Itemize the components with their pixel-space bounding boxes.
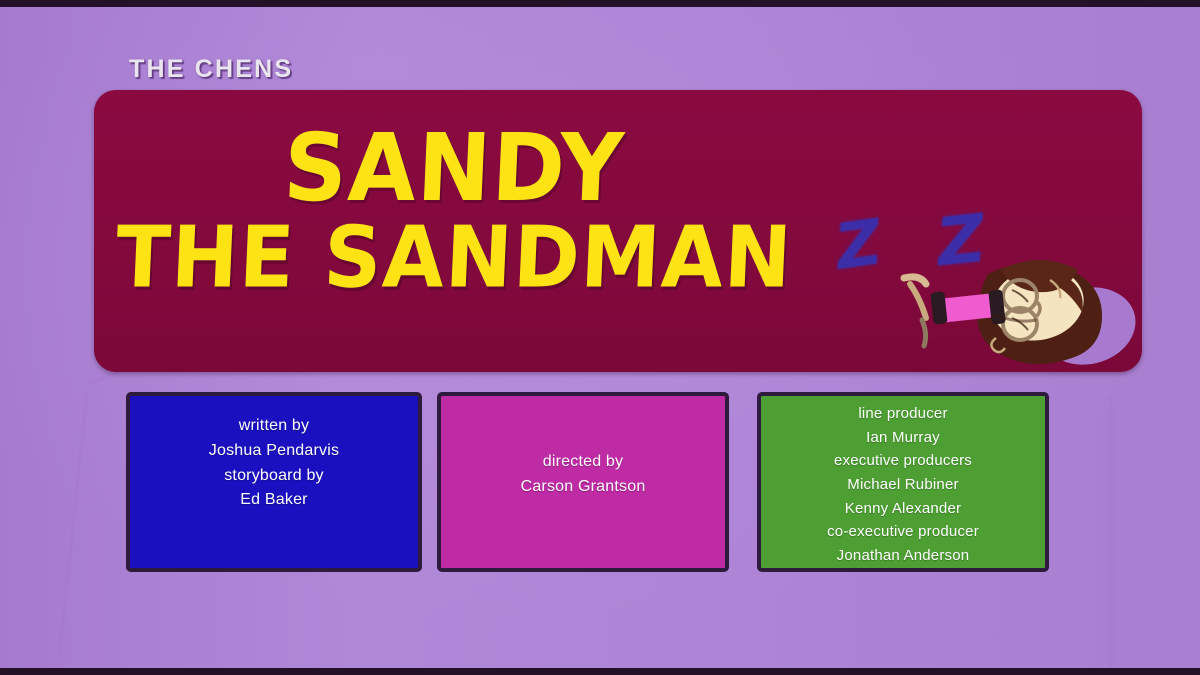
credits-directed-lines: directed by Carson Grantson [441, 450, 725, 500]
credit-line: Ian Murray [761, 426, 1045, 450]
title-card-screen: THE CHENS SANDY THE SANDMAN Z Z Z Z [0, 0, 1200, 675]
credits-producers-lines: line producer Ian Murray executive produ… [761, 402, 1045, 568]
credit-line: Kenny Alexander [761, 497, 1045, 521]
credit-line: Michael Rubiner [761, 473, 1045, 497]
sleep-z-icon: Z [831, 205, 886, 284]
credit-line: written by [130, 414, 418, 439]
letterbox-bar-bottom [0, 668, 1200, 675]
episode-title-banner: SANDY THE SANDMAN Z Z Z Z [94, 90, 1142, 372]
credit-line: directed by [441, 450, 725, 475]
credits-box-producers: line producer Ian Murray executive produ… [757, 392, 1049, 572]
episode-title-line-1: SANDY [94, 123, 816, 213]
episode-title-line-2: THE SANDMAN [94, 218, 816, 299]
credits-box-directed: directed by Carson Grantson [437, 392, 729, 572]
credits-box-written: written by Joshua Pendarvis storyboard b… [126, 392, 422, 572]
credits-row: written by Joshua Pendarvis storyboard b… [0, 392, 1200, 572]
credit-line: Joshua Pendarvis [130, 439, 418, 464]
credit-line: co-executive producer [761, 520, 1045, 544]
credit-line: Carson Grantson [441, 475, 725, 500]
credit-line: Jonathan Anderson [761, 544, 1045, 568]
credits-written-lines: written by Joshua Pendarvis storyboard b… [130, 414, 418, 513]
letterbox-bar-top [0, 0, 1200, 7]
credit-line: Ed Baker [130, 488, 418, 513]
credit-line: executive producers [761, 449, 1045, 473]
show-title: THE CHENS [129, 55, 293, 84]
episode-title-block: SANDY THE SANDMAN [94, 126, 814, 297]
credit-line: storyboard by [130, 464, 418, 489]
sleeping-character-illustration [892, 218, 1142, 372]
credit-line: line producer [761, 402, 1045, 426]
